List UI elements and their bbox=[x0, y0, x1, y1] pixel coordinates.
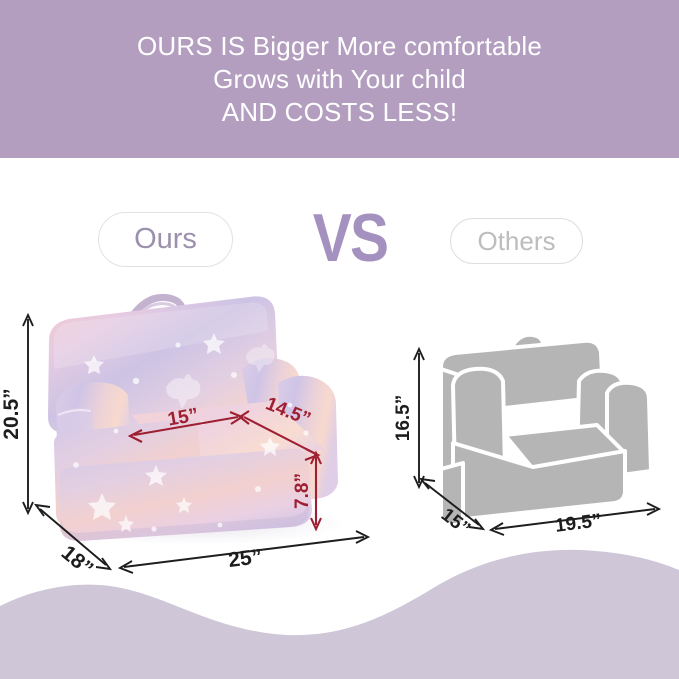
dimension-height-ours: 20.5” bbox=[0, 315, 33, 513]
header-line-2: Grows with Your child bbox=[213, 63, 466, 96]
wave-shape bbox=[0, 550, 679, 679]
ours-product-figure: 20.5” 18” 25” 15” bbox=[6, 283, 376, 583]
dimension-height-ours-label: 20.5” bbox=[0, 388, 23, 439]
dimension-height-others: 16.5” bbox=[393, 349, 424, 487]
product-comparison-area: 20.5” 18” 25” 15” bbox=[0, 158, 679, 598]
dimension-height-others-label: 16.5” bbox=[393, 395, 414, 441]
others-product-figure: 16.5” 15” 19.5” bbox=[383, 323, 673, 558]
header-line-1: OURS IS Bigger More comfortable bbox=[137, 30, 542, 63]
dimension-seat-height-label: 7.8” bbox=[292, 473, 313, 509]
bottom-wave-decoration bbox=[0, 544, 679, 679]
dimension-width-others-label: 19.5” bbox=[554, 510, 603, 537]
header-banner: OURS IS Bigger More comfortable Grows wi… bbox=[0, 0, 679, 158]
header-line-3: AND COSTS LESS! bbox=[222, 96, 458, 129]
gray-chair-silhouette bbox=[441, 335, 651, 525]
